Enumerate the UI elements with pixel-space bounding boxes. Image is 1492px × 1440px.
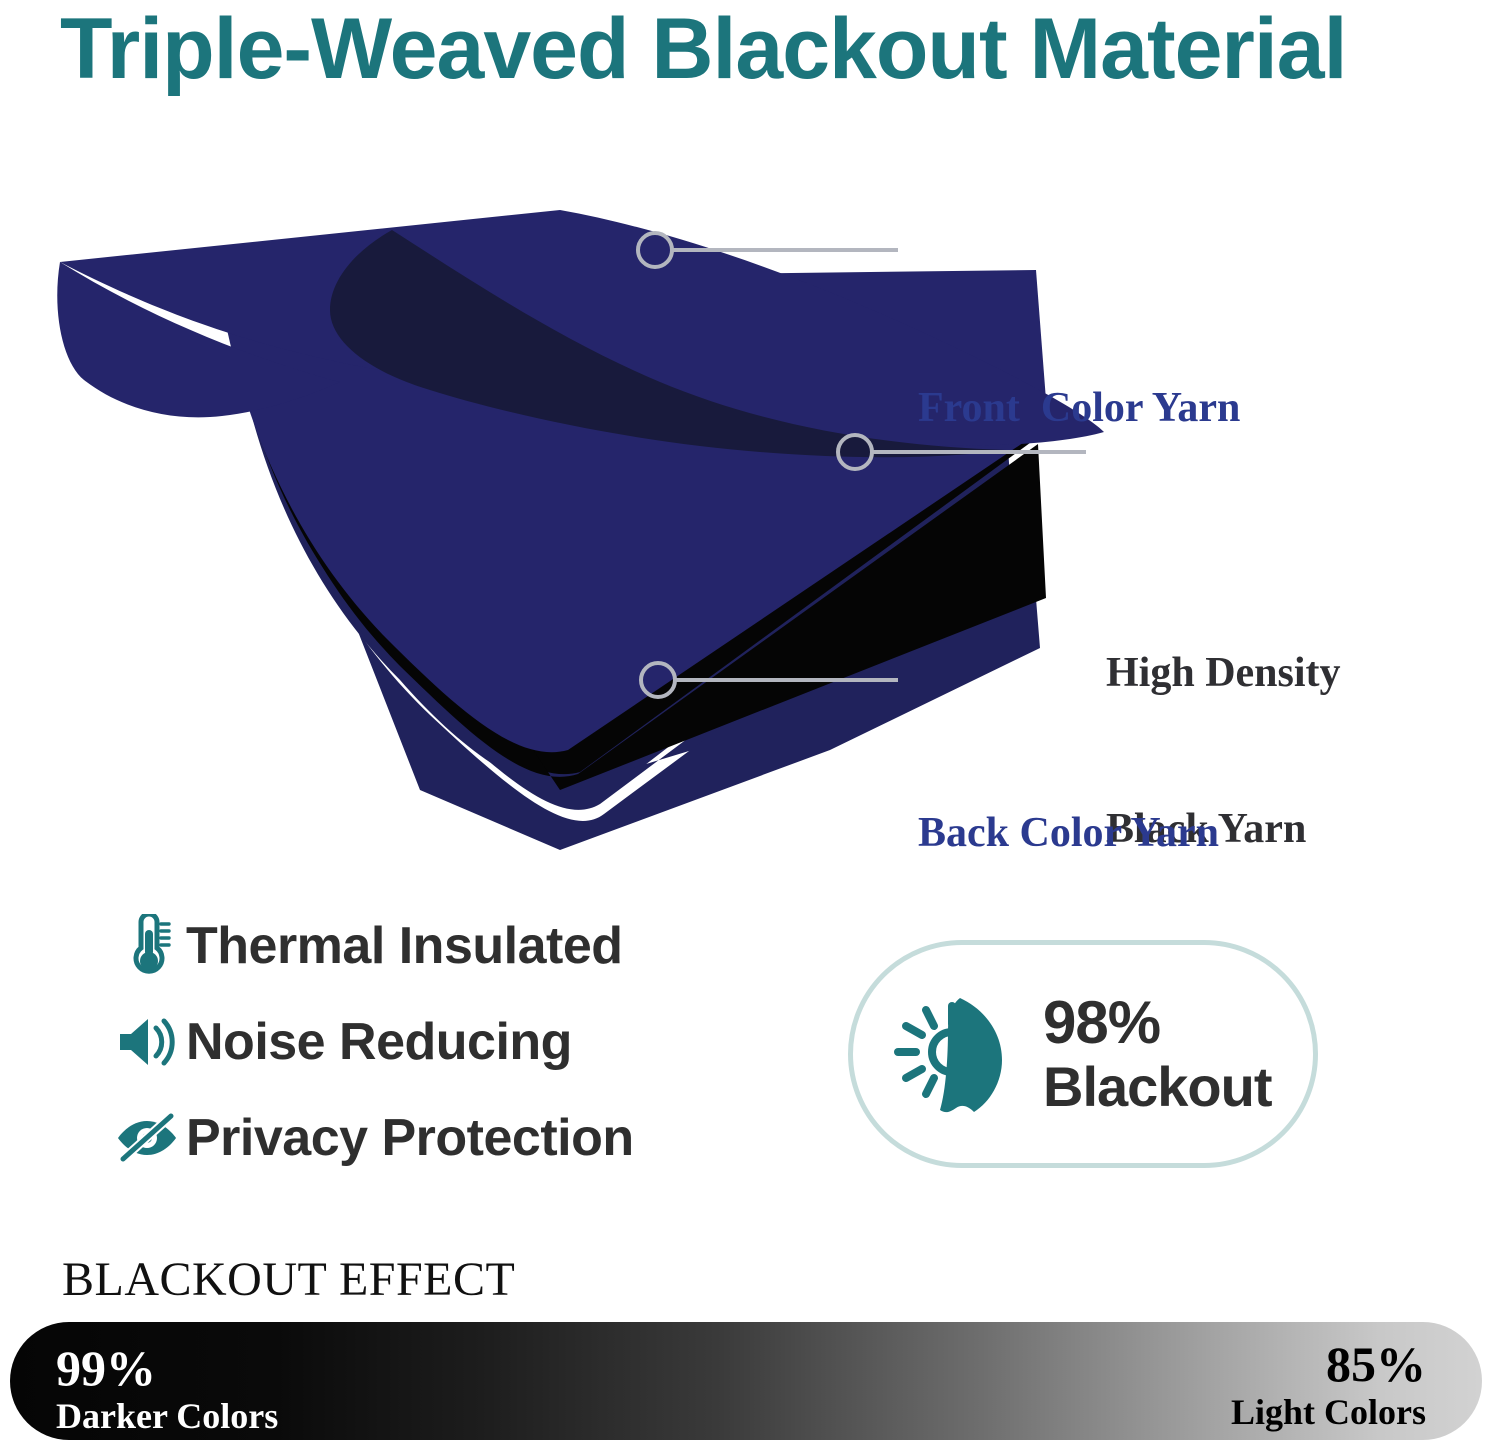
blackout-percent: 98% bbox=[1043, 993, 1272, 1053]
fabric-layers-diagram: Front Color Yarn High Density Black Yarn… bbox=[0, 150, 1492, 850]
blackout-badge-text: 98% Blackout bbox=[1043, 993, 1272, 1115]
blackout-effect-bar: 99% Darker Colors 85% Light Colors bbox=[10, 1322, 1482, 1440]
callout-label-front: Front Color Yarn bbox=[918, 382, 1240, 434]
feature-list: Thermal Insulated Noise Reducing Privacy… bbox=[108, 898, 808, 1186]
callout-label-back: Back Color Yarn bbox=[918, 807, 1219, 859]
feature-row-privacy: Privacy Protection bbox=[108, 1090, 808, 1186]
darker-colors-caption: Darker Colors bbox=[56, 1396, 278, 1436]
speaker-icon bbox=[108, 1015, 186, 1069]
feature-label-thermal: Thermal Insulated bbox=[186, 917, 623, 975]
feature-label-noise: Noise Reducing bbox=[186, 1013, 572, 1071]
blackout-effect-heading: BLACKOUT EFFECT bbox=[62, 1252, 515, 1308]
page-title: Triple-Weaved Blackout Material bbox=[60, 0, 1460, 104]
blackout-word: Blackout bbox=[1043, 1059, 1272, 1115]
light-colors-percent: 85% bbox=[1231, 1338, 1426, 1390]
feature-row-noise: Noise Reducing bbox=[108, 994, 808, 1090]
callout-label-middle-line1: High Density bbox=[1106, 647, 1341, 699]
blackout-effect-right-stat: 85% Light Colors bbox=[1231, 1338, 1426, 1432]
blackout-effect-left-stat: 99% Darker Colors bbox=[56, 1342, 278, 1436]
feature-row-thermal: Thermal Insulated bbox=[108, 898, 808, 994]
blackout-badge: 98% Blackout bbox=[848, 940, 1318, 1168]
thermometer-icon bbox=[108, 914, 186, 978]
eye-slash-icon bbox=[108, 1111, 186, 1165]
darker-colors-percent: 99% bbox=[56, 1342, 278, 1394]
callout-label-middle: High Density Black Yarn bbox=[1106, 543, 1341, 959]
light-colors-caption: Light Colors bbox=[1231, 1392, 1426, 1432]
sun-behind-curtain-icon bbox=[853, 986, 1043, 1122]
feature-label-privacy: Privacy Protection bbox=[186, 1109, 634, 1167]
